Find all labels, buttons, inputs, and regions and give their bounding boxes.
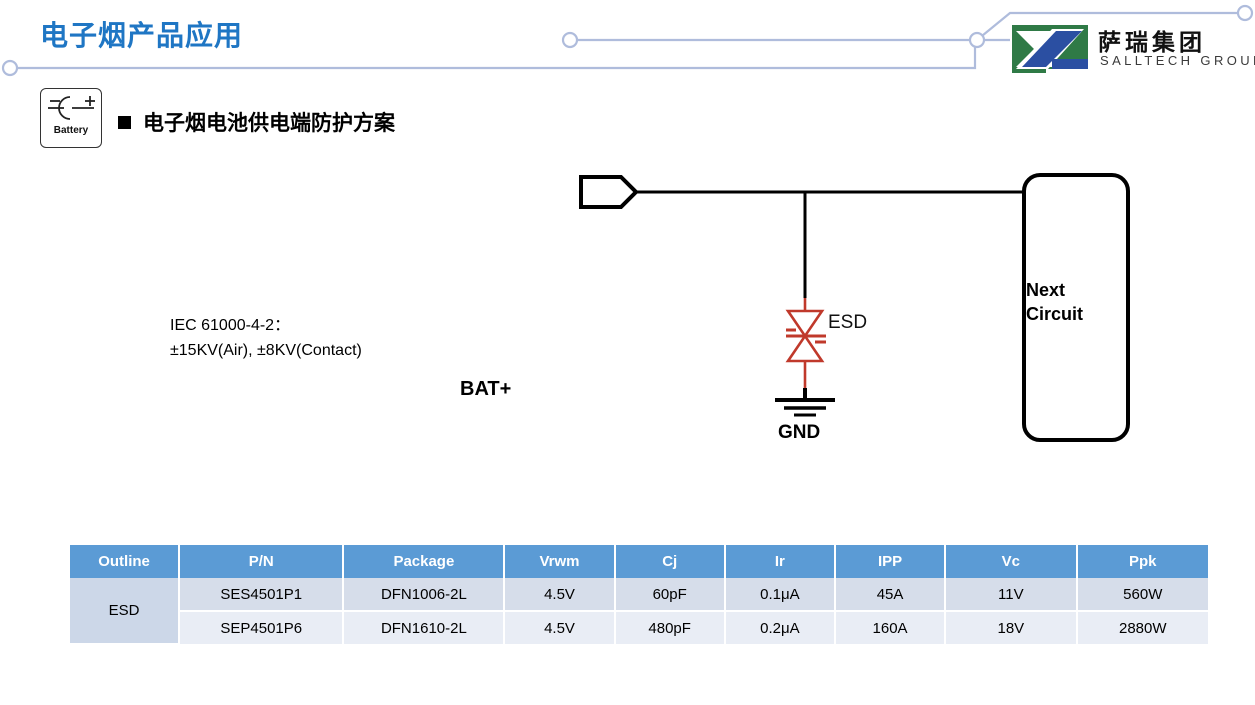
col-header-vc: Vc (945, 545, 1076, 578)
cell-ipp: 45A (835, 578, 945, 611)
cell-outline-group: ESD (70, 578, 179, 644)
section-subtitle: 电子烟电池供电端防护方案 (118, 107, 395, 137)
col-header-ir: Ir (725, 545, 835, 578)
cell-ipp: 160A (835, 611, 945, 644)
col-header-cj: Cj (615, 545, 725, 578)
iec-note-line1: IEC 61000-4-2： (170, 313, 362, 338)
col-header-pn: P/N (179, 545, 343, 578)
cell-package: DFN1006-2L (343, 578, 504, 611)
next-circuit-label: Next Circuit (1026, 278, 1136, 326)
col-header-ppk: Ppk (1077, 545, 1208, 578)
cell-vrwm: 4.5V (504, 611, 614, 644)
gnd-label: GND (778, 422, 820, 444)
col-header-outline: Outline (70, 545, 179, 578)
cell-ppk: 560W (1077, 578, 1208, 611)
battery-icon: Battery (40, 88, 104, 150)
cell-cj: 480pF (615, 611, 725, 644)
iec-note-line2: ±15KV(Air), ±8KV(Contact) (170, 338, 362, 363)
page-title: 电子烟产品应用 (40, 14, 243, 54)
cell-package: DFN1610-2L (343, 611, 504, 644)
deco-circle-mid (563, 33, 577, 47)
cell-pn: SES4501P1 (179, 578, 343, 611)
cell-pn: SEP4501P6 (179, 611, 343, 644)
next-circuit-line1: Next (1026, 278, 1136, 302)
cell-ir: 0.1μA (725, 578, 835, 611)
deco-circle-elbow (970, 33, 984, 47)
deco-circle-left (3, 61, 17, 75)
bullet-square-icon (118, 116, 131, 129)
company-logo: 萨瑞集团 SALLTECH GROUP (1012, 25, 1244, 75)
cell-vc: 11V (945, 578, 1076, 611)
logo-name-cn: 萨瑞集团 (1098, 23, 1206, 57)
cell-vc: 18V (945, 611, 1076, 644)
table-header-row: Outline P/N Package Vrwm Cj Ir IPP Vc Pp… (70, 545, 1208, 578)
cell-ir: 0.2μA (725, 611, 835, 644)
esd-label: ESD (828, 312, 867, 334)
bat-plus-label: BAT+ (460, 378, 511, 401)
col-header-package: Package (343, 545, 504, 578)
col-header-vrwm: Vrwm (504, 545, 614, 578)
deco-circle-right (1238, 6, 1252, 20)
spec-table: Outline P/N Package Vrwm Cj Ir IPP Vc Pp… (70, 545, 1208, 645)
salltech-logo-mark (1012, 25, 1088, 73)
next-circuit-line2: Circuit (1026, 302, 1136, 326)
bat-connector-symbol (581, 177, 636, 207)
cell-ppk: 2880W (1077, 611, 1208, 644)
col-header-ipp: IPP (835, 545, 945, 578)
battery-symbol (40, 88, 102, 128)
iec-standard-note: IEC 61000-4-2： ±15KV(Air), ±8KV(Contact) (170, 313, 362, 363)
esd-diode-symbol (786, 298, 826, 394)
cell-vrwm: 4.5V (504, 578, 614, 611)
section-subtitle-text: 电子烟电池供电端防护方案 (143, 107, 395, 137)
cell-cj: 60pF (615, 578, 725, 611)
table-row: SEP4501P6 DFN1610-2L 4.5V 480pF 0.2μA 16… (70, 611, 1208, 644)
logo-name-en: SALLTECH GROUP (1100, 53, 1255, 68)
ground-symbol (775, 388, 835, 415)
slide-root: 电子烟产品应用 萨瑞集团 SALLTECH GROUP Battery 电子烟电… (0, 0, 1255, 705)
battery-icon-label: Battery (40, 125, 102, 136)
table-row: ESD SES4501P1 DFN1006-2L 4.5V 60pF 0.1μA… (70, 578, 1208, 611)
